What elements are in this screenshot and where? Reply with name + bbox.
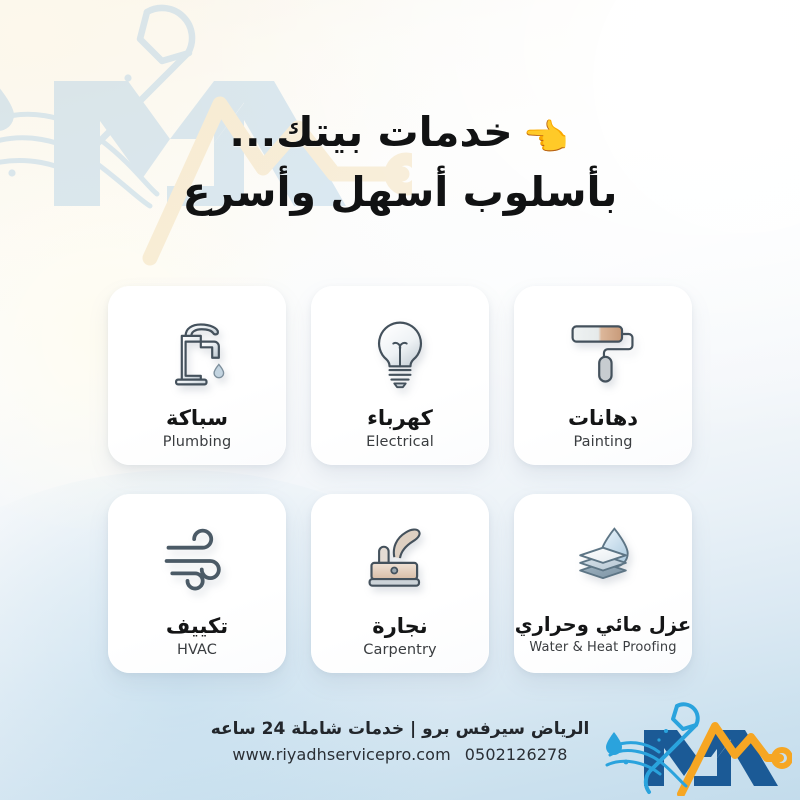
- service-card-painting[interactable]: دهانات Painting: [514, 286, 692, 465]
- headline-line-1: 👈خدمات بيتك...: [0, 108, 800, 160]
- footer: الرياض سيرفس برو | خدمات شاملة 24 ساعه w…: [0, 712, 800, 788]
- footer-website[interactable]: www.riyadhservicepro.com: [232, 745, 450, 764]
- service-card-waterproofing[interactable]: عزل مائي وحراري Water & Heat Proofing: [514, 494, 692, 673]
- services-grid: سباكة Plumbing: [108, 286, 692, 673]
- service-card-plumbing[interactable]: سباكة Plumbing: [108, 286, 286, 465]
- service-label-en: Water & Heat Proofing: [529, 640, 676, 655]
- service-label-ar: عزل مائي وحراري: [515, 614, 691, 636]
- service-card-carpentry[interactable]: نجارة Carpentry: [311, 494, 489, 673]
- headline-line-2: بأسلوب أسهل وأسرع: [0, 168, 800, 216]
- service-label-en: Electrical: [366, 434, 434, 450]
- paint-roller-icon: [560, 312, 646, 394]
- headline-line-1-text: خدمات بيتك...: [229, 108, 512, 156]
- wood-plane-icon: [357, 520, 443, 602]
- service-label-en: Carpentry: [363, 642, 436, 658]
- footer-phone[interactable]: 0502126278: [465, 745, 568, 764]
- service-card-electrical[interactable]: كهرباء Electrical: [311, 286, 489, 465]
- pointing-hand-icon: 👈: [523, 116, 569, 160]
- service-label-ar: سباكة: [166, 406, 228, 430]
- brand-logo: [602, 700, 792, 796]
- service-label-en: Painting: [573, 434, 632, 450]
- faucet-icon: [154, 312, 240, 394]
- service-label-ar: نجارة: [372, 614, 427, 638]
- droplet-layers-icon: [560, 520, 646, 602]
- wind-airflow-icon: [154, 520, 240, 602]
- poster-canvas: 👈خدمات بيتك... بأسلوب أسهل وأسرع: [0, 0, 800, 800]
- lightbulb-icon: [357, 312, 443, 394]
- service-label-ar: دهانات: [568, 406, 638, 430]
- headline: 👈خدمات بيتك... بأسلوب أسهل وأسرع: [0, 108, 800, 216]
- service-label-en: Plumbing: [163, 434, 232, 450]
- service-label-ar: كهرباء: [367, 406, 433, 430]
- service-card-hvac[interactable]: تكييف HVAC: [108, 494, 286, 673]
- service-label-en: HVAC: [177, 642, 217, 658]
- service-label-ar: تكييف: [166, 614, 228, 638]
